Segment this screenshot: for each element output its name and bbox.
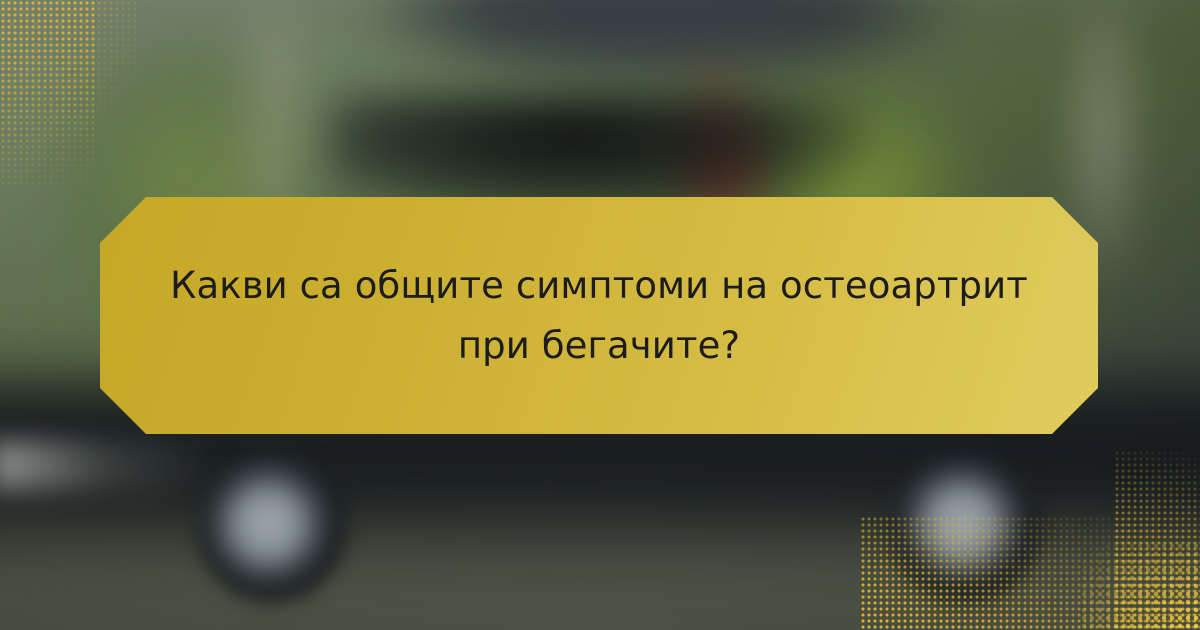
- question-card: Какви са общите симптоми на остеоартрит …: [0, 0, 1200, 630]
- question-banner: Какви са общите симптоми на остеоартрит …: [100, 197, 1098, 434]
- question-text: Какви са общите симптоми на остеоартрит …: [164, 256, 1034, 376]
